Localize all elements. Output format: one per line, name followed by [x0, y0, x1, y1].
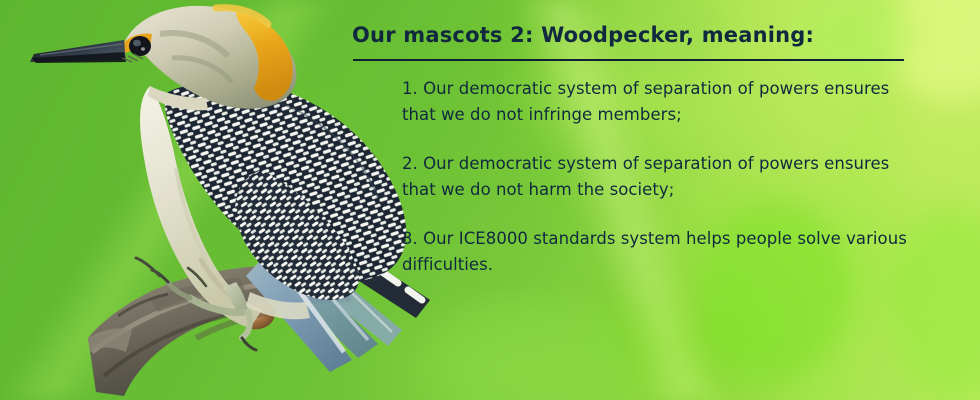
meaning-item-1: 1. Our democratic system of separation o… [402, 76, 922, 128]
meaning-item-3: 3. Our ICE8000 standards system helps pe… [402, 226, 922, 278]
title-divider [353, 59, 904, 61]
woodpecker-head [30, 6, 297, 111]
meaning-item-2: 2. Our democratic system of separation o… [402, 151, 922, 203]
meaning-list: 1. Our democratic system of separation o… [402, 76, 922, 278]
mascot-banner: Our mascots 2: Woodpecker, meaning: 1. O… [0, 0, 980, 400]
bird-eye [129, 36, 151, 56]
page-title: Our mascots 2: Woodpecker, meaning: [352, 22, 922, 48]
banner-text-content: Our mascots 2: Woodpecker, meaning: 1. O… [352, 22, 922, 278]
